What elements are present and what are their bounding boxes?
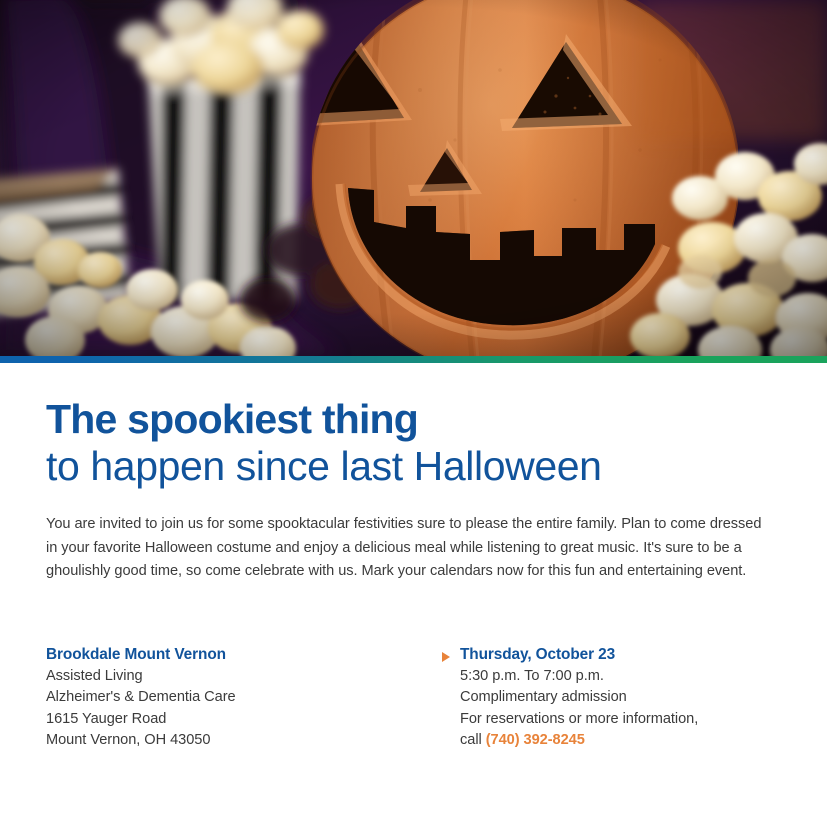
event-call-line: call (740) 392-8245 — [460, 730, 781, 751]
event-reservations-note: For reservations or more information, — [460, 709, 781, 730]
flyer-content: The spookiest thing to happen since last… — [0, 363, 827, 751]
community-care-type-assisted-living: Assisted Living — [46, 666, 438, 687]
flyer-footer: Brookdale Mount Vernon Assisted Living A… — [46, 584, 781, 751]
phone-number[interactable]: (740) 392-8245 — [486, 732, 585, 748]
page-title: The spookiest thing to happen since last… — [46, 363, 781, 487]
invitation-paragraph: You are invited to join us for some spoo… — [46, 487, 768, 584]
community-name: Brookdale Mount Vernon — [46, 646, 438, 664]
event-admission: Complimentary admission — [460, 687, 781, 708]
call-label: call — [460, 732, 486, 748]
halloween-scene-image — [0, 0, 827, 356]
event-date: Thursday, October 23 — [460, 646, 781, 664]
halloween-event-flyer: The spookiest thing to happen since last… — [0, 0, 827, 838]
community-info-block: Brookdale Mount Vernon Assisted Living A… — [46, 646, 438, 751]
event-details-block: Thursday, October 23 5:30 p.m. To 7:00 p… — [438, 646, 781, 751]
triangle-bullet-icon — [442, 652, 450, 662]
brand-gradient-rule — [0, 356, 827, 363]
community-street-address: 1615 Yauger Road — [46, 709, 438, 730]
community-care-type-memory-care: Alzheimer's & Dementia Care — [46, 687, 438, 708]
event-time: 5:30 p.m. To 7:00 p.m. — [460, 666, 781, 687]
hero-photo-container — [0, 0, 827, 356]
headline-line-1: The spookiest thing — [46, 399, 781, 440]
headline-line-2: to happen since last Halloween — [46, 446, 781, 487]
community-city-state-zip: Mount Vernon, OH 43050 — [46, 730, 438, 751]
